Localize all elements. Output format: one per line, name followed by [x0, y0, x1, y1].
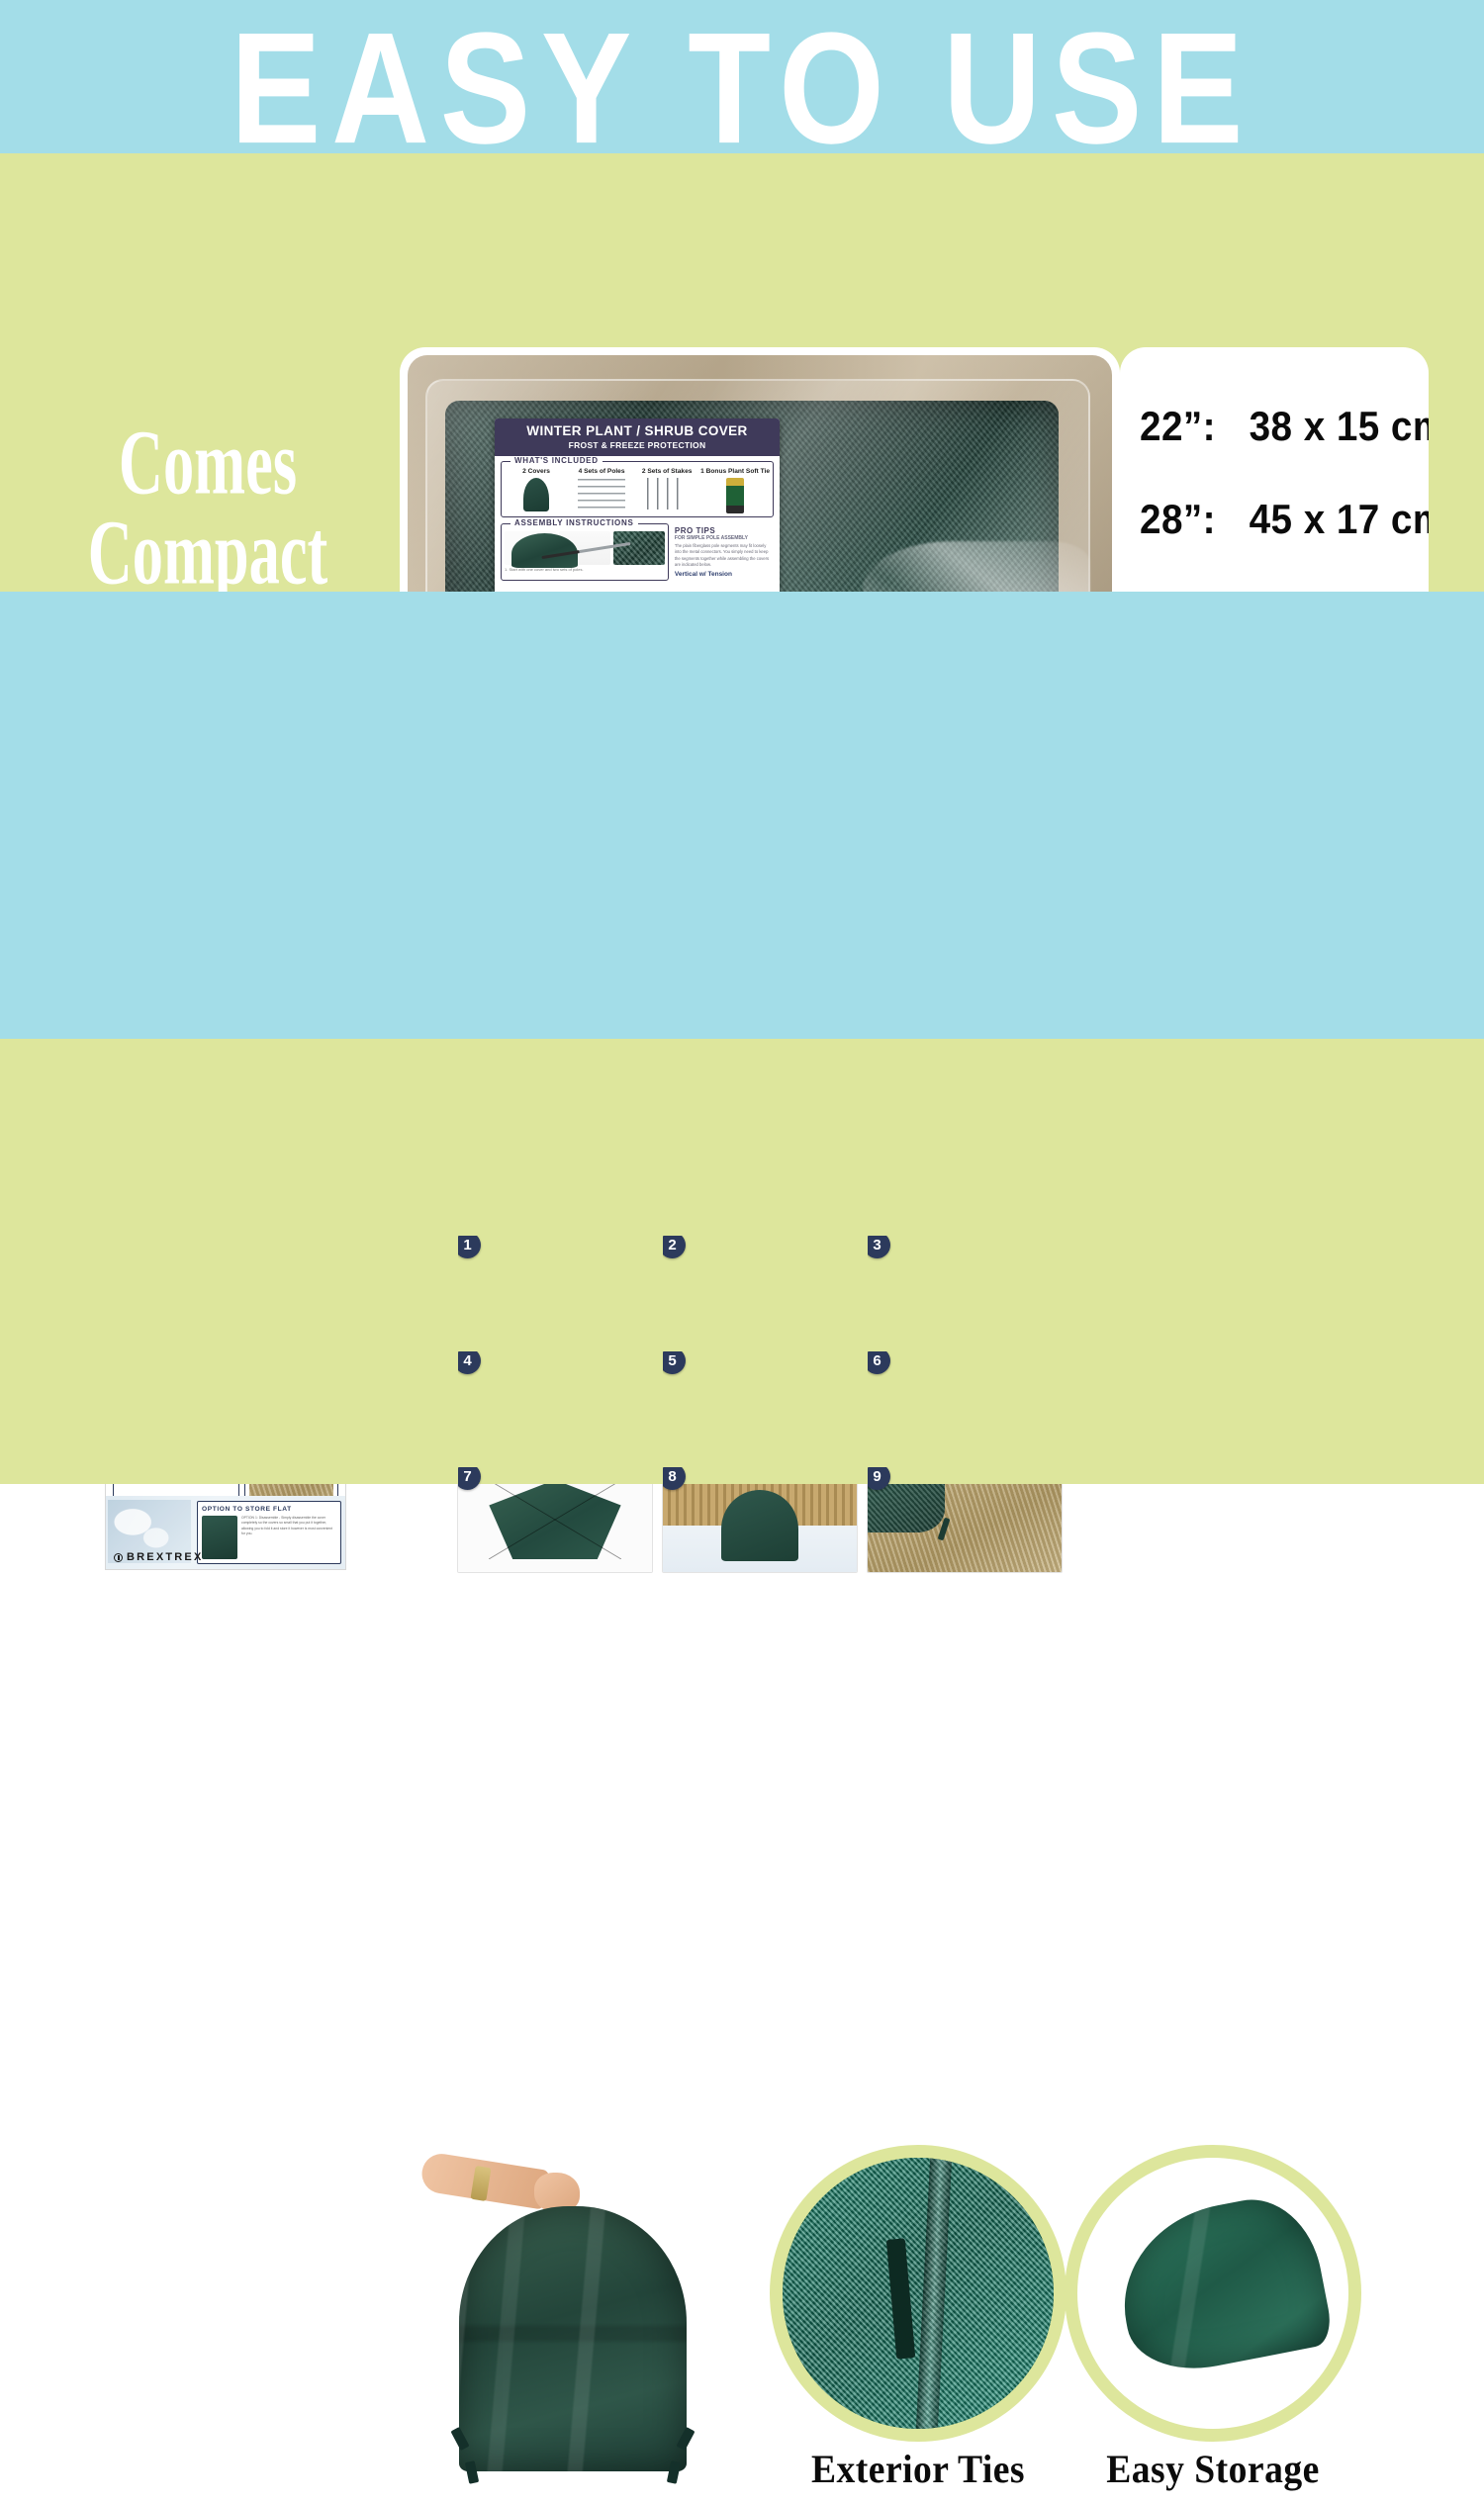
infographic-page: EASY TO USE Comes Compact WINTER PLANT /… — [0, 0, 1484, 1484]
label-pro-tips-body: The plain fiberglass pole segments may f… — [675, 543, 772, 568]
caption-exterior-ties: Exterior Ties — [770, 2446, 1067, 2492]
label-lower-row: ASSEMBLY INSTRUCTIONS 1. Start wi — [501, 523, 774, 581]
label-included-box: WHAT'S INCLUDED 2 Covers 4 Sets of Poles — [501, 461, 774, 517]
dimension-value: 45 x 17 cm — [1250, 496, 1429, 542]
store-flat-photo — [202, 1516, 237, 1559]
assembly-thumb-3 — [613, 531, 665, 565]
included-caption: 2 Covers — [505, 468, 568, 475]
dimension-row: 28”: 45 x 17 cm — [1140, 496, 1400, 543]
included-item: 1 Bonus Plant Soft Tie — [700, 468, 770, 513]
label-pro-tips-title: PRO TIPS — [675, 526, 772, 535]
store-flat-title: OPTION TO STORE FLAT — [202, 1506, 336, 1513]
label-assembly-title: ASSEMBLY INSTRUCTIONS — [510, 518, 638, 527]
cover-icon — [523, 478, 549, 511]
stakes-icon — [647, 478, 687, 510]
label-pro-tip-1: Vertical w/ Tension — [675, 571, 772, 578]
store-flat-card: Exterior Ties Easy Storage — [396, 2127, 1440, 2505]
included-caption: 2 Sets of Stakes — [635, 468, 698, 475]
cover-over-plant — [721, 1490, 798, 1561]
soft-tie-icon — [726, 478, 744, 513]
label-title: WINTER PLANT / SHRUB COVER — [499, 423, 776, 438]
sheet-footer: OPTION TO STORE FLAT OPTION 1: Disassemb… — [106, 1496, 345, 1569]
dimension-row: 22”: 38 x 15 cm — [1140, 403, 1400, 450]
label-assembly-thumbs — [505, 531, 665, 565]
brand-mark-icon — [114, 1553, 123, 1562]
sheet-store-flat-box: OPTION TO STORE FLAT OPTION 1: Disassemb… — [197, 1501, 341, 1564]
section-option-to-store-flat: Option to Store Flat Exterior — [0, 1039, 1484, 1484]
label-header: WINTER PLANT / SHRUB COVER FROST & FREEZ… — [495, 418, 780, 456]
store-flat-body: OPTION 1: Disassemble - Simply disassemb… — [241, 1516, 336, 1559]
brand-logo: BREXTREX — [114, 1551, 204, 1563]
brand-name: BREXTREX — [127, 1551, 204, 1563]
package-instruction-label: WINTER PLANT / SHRUB COVER FROST & FREEZ… — [495, 418, 780, 612]
store-flat-row: OPTION 1: Disassemble - Simply disassemb… — [202, 1516, 336, 1559]
included-item: 2 Sets of Stakes — [635, 468, 698, 513]
exterior-ties-photo — [770, 2145, 1067, 2442]
dimension-value: 38 x 15 cm — [1250, 403, 1429, 449]
label-assembly-box: ASSEMBLY INSTRUCTIONS 1. Start wi — [501, 523, 669, 581]
included-item: 4 Sets of Poles — [570, 468, 633, 513]
included-caption: 4 Sets of Poles — [570, 468, 633, 475]
section-simple-assembly: Simple Assembly WINTER PLANT / SHRUB COV… — [0, 592, 1484, 1039]
dimension-size: 28”: — [1140, 496, 1216, 542]
included-caption: 1 Bonus Plant Soft Tie — [700, 468, 770, 475]
caption-easy-storage: Easy Storage — [1063, 2446, 1364, 2492]
easy-storage-photo — [1065, 2145, 1361, 2442]
assembly-thumb-1 — [505, 531, 556, 565]
section-comes-compact: Comes Compact WINTER PLANT / SHRUB COVER… — [0, 153, 1484, 592]
label-included-title: WHAT'S INCLUDED — [510, 456, 603, 465]
label-included-row: 2 Covers 4 Sets of Poles 2 Sets of Stake… — [505, 468, 770, 513]
dimension-size: 22”: — [1140, 403, 1216, 449]
section-heading-store-flat: Option to Store Flat — [7, 2132, 339, 2313]
label-pro-tips-subtitle: FOR SIMPLE POLE ASSEMBLY — [675, 535, 772, 541]
cover-pole-cross — [489, 1480, 620, 1560]
flat-cover-photo — [414, 2143, 740, 2489]
included-item: 2 Covers — [505, 468, 568, 513]
label-assembly-text: 1. Start with one cover and two sets of … — [505, 567, 665, 573]
label-subtitle: FROST & FREEZE PROTECTION — [499, 440, 776, 450]
folded-flat-cover — [1108, 2188, 1335, 2381]
fabric-crease — [459, 2206, 687, 2471]
fabric-fold — [1108, 2188, 1335, 2381]
section-heading-comes-compact: Comes Compact — [18, 417, 398, 599]
folded-cover — [459, 2206, 687, 2471]
poles-icon — [578, 479, 625, 509]
page-title: EASY TO USE — [30, 12, 1454, 167]
label-pro-tips-box: PRO TIPS FOR SIMPLE POLE ASSEMBLY The pl… — [673, 523, 774, 581]
header-band: EASY TO USE — [0, 0, 1484, 153]
